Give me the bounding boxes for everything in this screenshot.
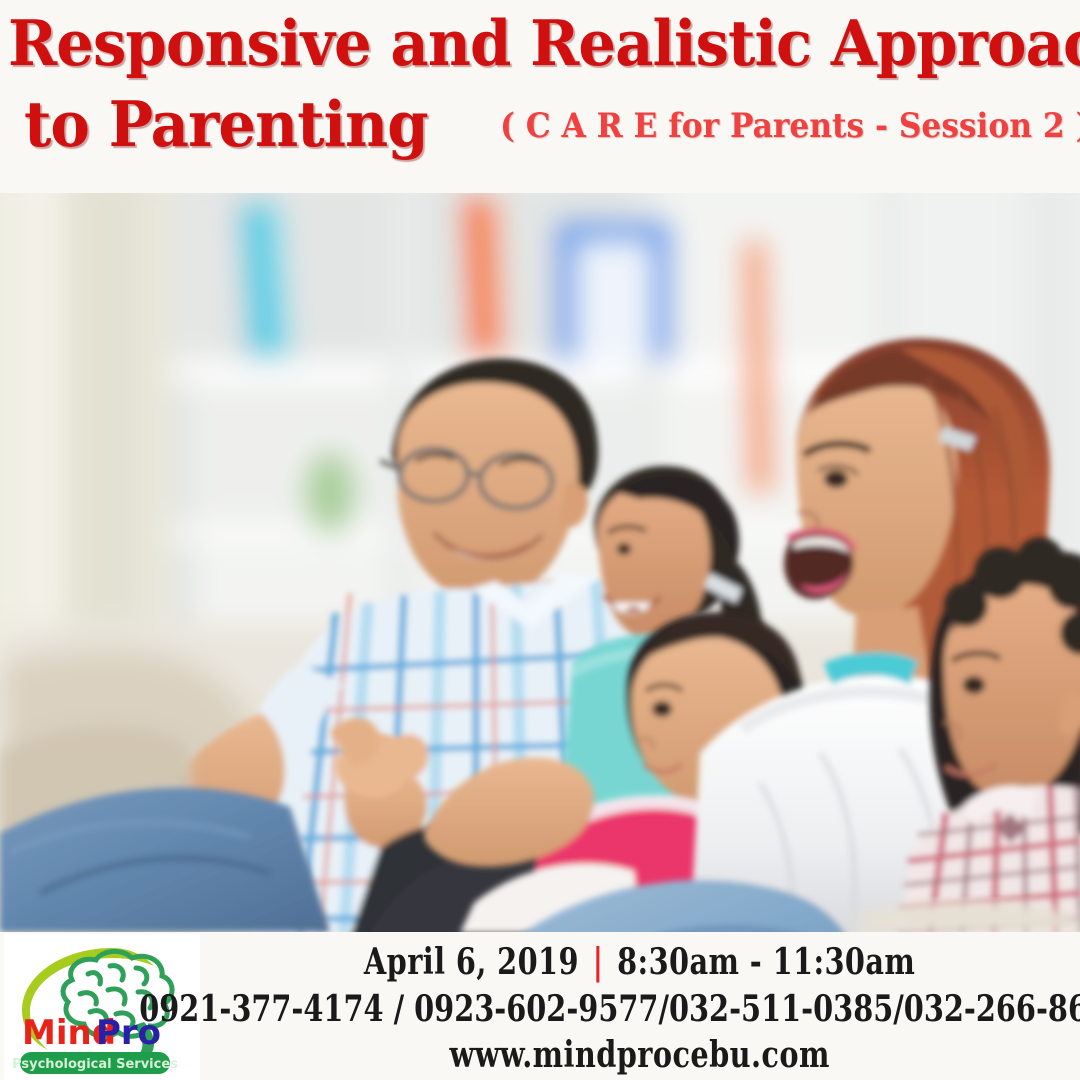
title-subtitle-row: to Parenting ( C A R E for Parents - Ses… <box>24 88 1074 160</box>
family-photo <box>0 193 1080 932</box>
event-datetime: April 6, 2019 | 8:30am - 11:30am <box>364 938 915 986</box>
event-date: April 6, 2019 <box>364 941 579 983</box>
event-time: 8:30am - 11:30am <box>617 941 915 983</box>
poster-header: Responsive and Realistic Approach to Par… <box>0 0 1080 193</box>
poster-title-line-1: Responsive and Realistic Approach <box>8 6 1014 80</box>
contact-phone-numbers[interactable]: 0921-377-4174 / 0923-602-9577/032-511-03… <box>139 986 1080 1032</box>
poster-footer: Mind Pro Psychological Services April 6,… <box>0 932 1080 1080</box>
poster-subtitle: ( C A R E for Parents - Session 2 ) <box>500 103 1080 149</box>
datetime-separator: | <box>590 941 607 983</box>
event-poster: Responsive and Realistic Approach to Par… <box>0 0 1080 1080</box>
logo-tagline: Psychological Services <box>12 1057 178 1072</box>
footer-details: April 6, 2019 | 8:30am - 11:30am 0921-37… <box>200 932 1080 1080</box>
website-url[interactable]: www.mindprocebu.com <box>450 1032 830 1078</box>
poster-title-line-2: to Parenting <box>24 88 428 160</box>
